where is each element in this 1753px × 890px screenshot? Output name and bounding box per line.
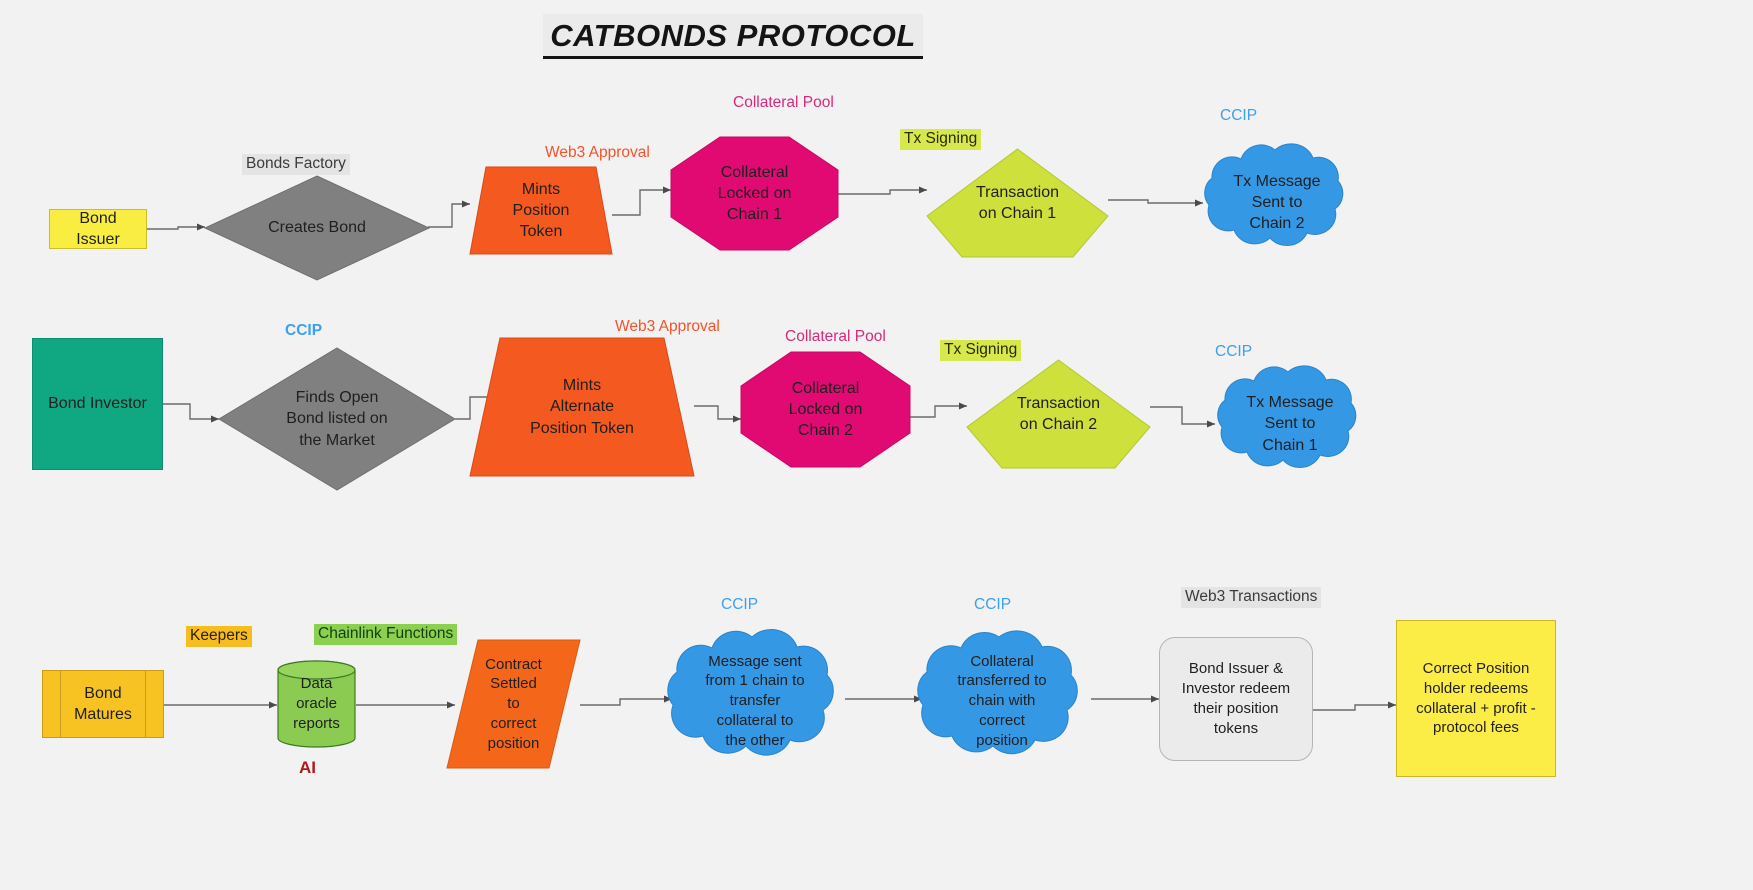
caption-ccip-5: CCIP [970, 595, 1015, 616]
node-bond-investor-label: Bond Investor [42, 393, 153, 414]
node-contract-settled-label: Contract Settled to correct position [479, 655, 548, 754]
caption-keepers: Keepers [186, 626, 252, 647]
node-collateral-locked-chain1[interactable]: Collateral Locked on Chain 1 [671, 137, 838, 250]
node-correct-position-holder-label: Correct Position holder redeems collater… [1410, 659, 1542, 738]
node-collateral-locked-chain1-label: Collateral Locked on Chain 1 [712, 162, 798, 225]
node-message-sent[interactable]: Message sent from 1 chain to transfer co… [660, 625, 850, 777]
caption-web3-approval-1: Web3 Approval [541, 143, 654, 164]
caption-ccip-1: CCIP [1216, 106, 1261, 127]
node-tx-message-chain1[interactable]: Tx Message Sent to Chain 1 [1209, 363, 1371, 485]
node-mints-position-token[interactable]: Mints Position Token [470, 167, 612, 254]
node-bond-issuer[interactable]: Bond Issuer [49, 209, 147, 249]
node-mints-alternate-token-label: Mints Alternate Position Token [524, 375, 640, 438]
node-creates-bond[interactable]: Creates Bond [205, 176, 429, 280]
caption-collateral-pool-2: Collateral Pool [781, 327, 890, 348]
node-collateral-locked-chain2-label: Collateral Locked on Chain 2 [783, 378, 869, 441]
node-transaction-chain2[interactable]: Transaction on Chain 2 [967, 360, 1150, 468]
caption-tx-signing-1: Tx Signing [900, 129, 981, 150]
page-title: CATBONDS PROTOCOL [543, 14, 923, 59]
node-transaction-chain1[interactable]: Transaction on Chain 1 [927, 149, 1108, 257]
node-contract-settled[interactable]: Contract Settled to correct position [447, 640, 580, 768]
node-tx-message-chain1-label: Tx Message Sent to Chain 1 [1240, 392, 1339, 455]
node-mints-alternate-token[interactable]: Mints Alternate Position Token [470, 338, 694, 476]
node-finds-open-bond-label: Finds Open Bond listed on the Market [280, 387, 393, 450]
caption-bonds-factory: Bonds Factory [242, 154, 350, 175]
node-creates-bond-label: Creates Bond [262, 217, 372, 238]
node-bond-matures-label: Bond Matures [68, 683, 138, 725]
node-correct-position-holder[interactable]: Correct Position holder redeems collater… [1396, 620, 1556, 777]
caption-ccip-2: CCIP [281, 321, 326, 342]
caption-collateral-pool-1: Collateral Pool [729, 93, 838, 114]
node-finds-open-bond[interactable]: Finds Open Bond listed on the Market [219, 348, 455, 490]
caption-web3-approval-2: Web3 Approval [611, 317, 724, 338]
caption-chainlink-functions: Chainlink Functions [314, 624, 457, 645]
caption-web3-transactions: Web3 Transactions [1181, 587, 1321, 608]
node-redeem-position-tokens-label: Bond Issuer & Investor redeem their posi… [1176, 659, 1296, 738]
node-bond-investor[interactable]: Bond Investor [32, 338, 163, 470]
caption-ai: AI [295, 757, 320, 779]
node-bond-issuer-label: Bond Issuer [50, 208, 146, 250]
node-collateral-transferred-label: Collateral transferred to chain with cor… [951, 652, 1052, 751]
caption-tx-signing-2: Tx Signing [940, 340, 1021, 361]
node-collateral-transferred[interactable]: Collateral transferred to chain with cor… [911, 625, 1093, 777]
node-transaction-chain2-label: Transaction on Chain 2 [1011, 393, 1106, 435]
node-tx-message-chain2[interactable]: Tx Message Sent to Chain 2 [1197, 141, 1357, 264]
diagram-canvas: CATBONDS PROTOCOL Bonds Factory Web3 App… [0, 0, 1753, 890]
node-mints-position-token-label: Mints Position Token [507, 179, 576, 242]
node-redeem-position-tokens[interactable]: Bond Issuer & Investor redeem their posi… [1159, 637, 1313, 761]
node-data-oracle-reports[interactable]: Data oracle reports [277, 660, 356, 748]
node-message-sent-label: Message sent from 1 chain to transfer co… [699, 652, 810, 751]
caption-ccip-4: CCIP [717, 595, 762, 616]
node-tx-message-chain2-label: Tx Message Sent to Chain 2 [1227, 171, 1326, 234]
node-transaction-chain1-label: Transaction on Chain 1 [970, 182, 1065, 224]
caption-ccip-3: CCIP [1211, 342, 1256, 363]
node-data-oracle-reports-label: Data oracle reports [287, 674, 346, 733]
node-bond-matures[interactable]: Bond Matures [42, 670, 164, 738]
node-collateral-locked-chain2[interactable]: Collateral Locked on Chain 2 [741, 352, 910, 467]
